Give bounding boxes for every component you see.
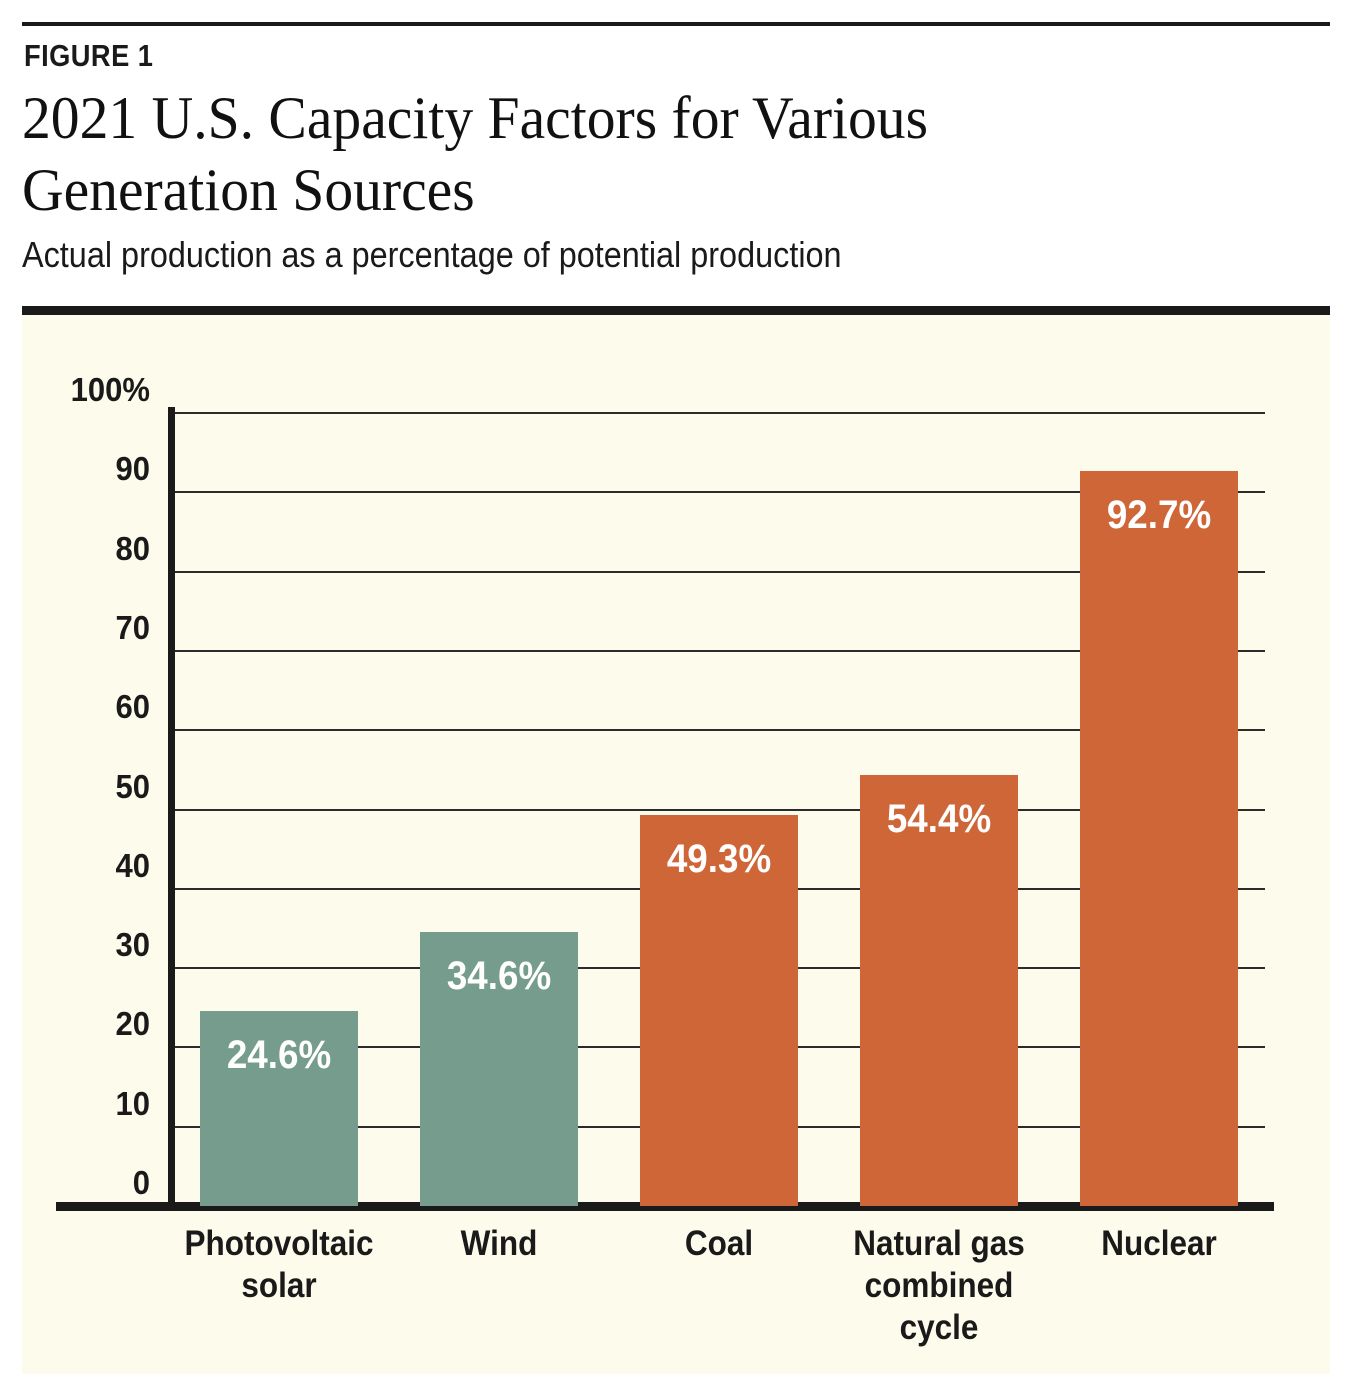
x-axis-label-line: combined [865,1266,1014,1305]
bar-value-label: 49.3% [646,837,791,882]
x-axis-category-label: Wind [396,1223,603,1265]
bar[interactable]: 24.6% [200,1011,358,1206]
header-top-rule [22,22,1330,26]
x-axis-label-line: Natural gas [853,1224,1025,1263]
bar-value-label: 34.6% [426,954,571,999]
x-axis-category-label: Coal [616,1223,823,1265]
x-axis-label-line: Coal [685,1224,753,1263]
figure-title: 2021 U.S. Capacity Factors for Various G… [22,82,1155,226]
bar[interactable]: 92.7% [1080,471,1238,1206]
bar[interactable]: 34.6% [420,932,578,1206]
figure-number-label: FIGURE 1 [24,38,153,74]
x-axis-category-label: Natural gascombinedcycle [836,1223,1043,1349]
bar[interactable]: 54.4% [860,775,1018,1206]
bar-value-label: 54.4% [866,797,1011,842]
bar-value-label: 92.7% [1086,493,1231,538]
x-axis-category-label: Nuclear [1056,1223,1263,1265]
bar-value-label: 24.6% [206,1033,351,1078]
bar-series: 24.6%Photovoltaicsolar34.6%Wind49.3%Coal… [22,315,1330,1383]
chart-panel: 100%9080706050403020100 24.6%Photovoltai… [22,306,1330,1374]
x-axis-label-line: Photovoltaic [184,1224,373,1263]
x-axis-label-line: Wind [461,1224,538,1263]
bar[interactable]: 49.3% [640,815,798,1206]
figure-page: FIGURE 1 2021 U.S. Capacity Factors for … [0,0,1372,1398]
x-axis-label-line: Nuclear [1101,1224,1217,1263]
figure-subtitle: Actual production as a percentage of pot… [22,234,842,276]
x-axis-label-line: solar [241,1266,316,1305]
x-axis-category-label: Photovoltaicsolar [176,1223,383,1307]
x-axis-label-line: cycle [900,1308,979,1347]
